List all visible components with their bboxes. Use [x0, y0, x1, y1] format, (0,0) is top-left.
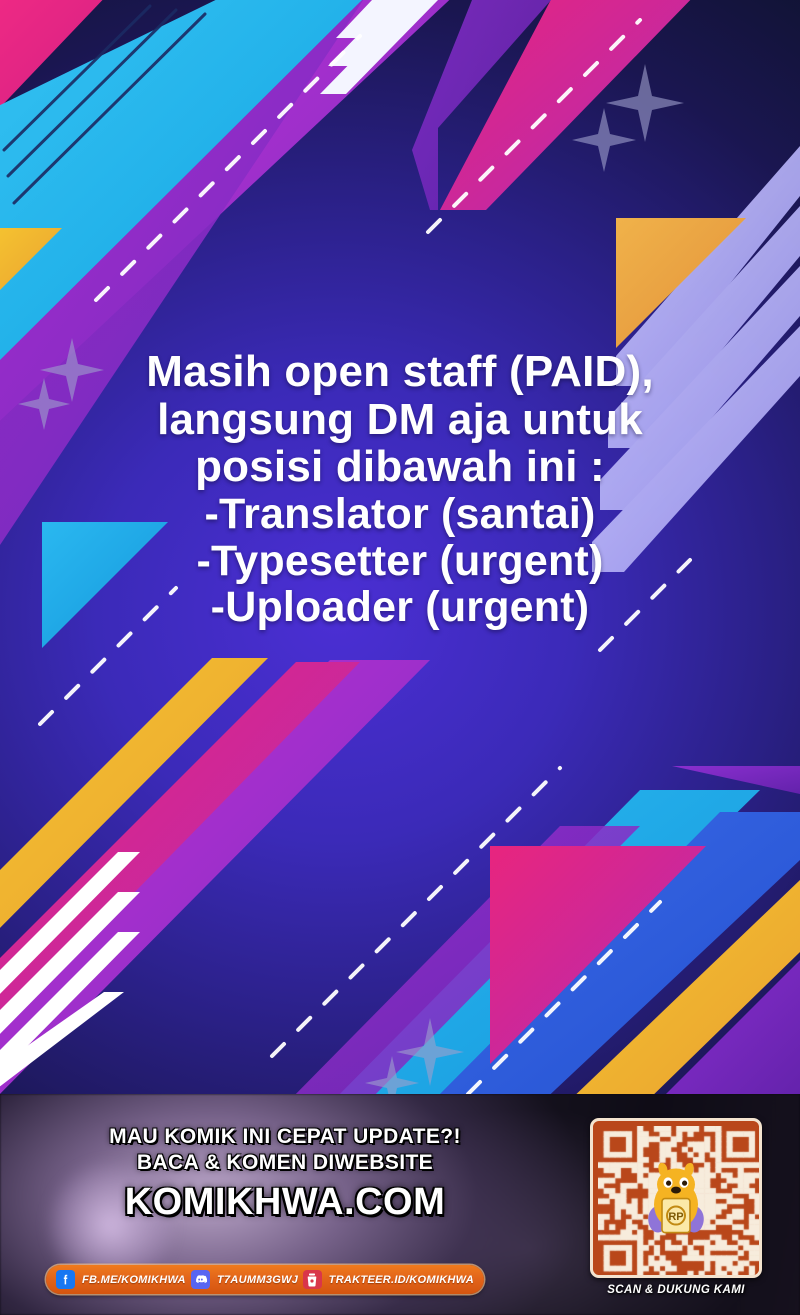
poster-page: Masih open staff (PAID), langsung DM aja…: [0, 0, 800, 1315]
position-line-translator: -Translator (santai): [0, 491, 800, 538]
banner-line-1: MAU KOMIK INI CEPAT UPDATE?!: [0, 1124, 570, 1150]
headline-line-2: langsung DM aja untuk: [0, 396, 800, 444]
headline-line-3: posisi dibawah ini :: [0, 443, 800, 491]
mascot-rp-label: RP: [668, 1211, 683, 1223]
banner-line-2: BACA & KOMEN DIWEBSITE: [0, 1150, 570, 1176]
trakteer-mascot-icon: RP: [642, 1161, 710, 1239]
poster-artwork: Masih open staff (PAID), langsung DM aja…: [0, 0, 800, 1094]
social-link-trakteer[interactable]: TRAKTEER.ID/KOMIKHWA: [303, 1265, 474, 1294]
poster-headline: Masih open staff (PAID), langsung DM aja…: [0, 348, 800, 631]
qr-block[interactable]: RP SCAN & DUKUNG KAMI: [590, 1118, 762, 1296]
qr-code[interactable]: RP: [590, 1118, 762, 1278]
social-links-bar[interactable]: FB.ME/KOMIKHWA T7AUMM3GWJ TRAKTEER.ID/KO…: [46, 1265, 484, 1294]
banner-website-url: KOMIKHWA.COM: [0, 1181, 570, 1224]
trakteer-label: TRAKTEER.ID/KOMIKHWA: [329, 1274, 474, 1286]
facebook-icon: [56, 1270, 75, 1289]
discord-label: T7AUMM3GWJ: [217, 1274, 298, 1286]
social-link-facebook[interactable]: FB.ME/KOMIKHWA: [56, 1265, 186, 1294]
qr-caption: SCAN & DUKUNG KAMI: [590, 1284, 762, 1296]
trakteer-icon: [303, 1270, 322, 1289]
discord-icon: [191, 1270, 210, 1289]
banner-promo-text: MAU KOMIK INI CEPAT UPDATE?! BACA & KOME…: [0, 1124, 570, 1224]
social-link-discord[interactable]: T7AUMM3GWJ: [191, 1265, 298, 1294]
position-line-typesetter: -Typesetter (urgent): [0, 538, 800, 585]
facebook-label: FB.ME/KOMIKHWA: [82, 1274, 186, 1286]
position-line-uploader: -Uploader (urgent): [0, 584, 800, 631]
headline-line-1: Masih open staff (PAID),: [0, 348, 800, 396]
